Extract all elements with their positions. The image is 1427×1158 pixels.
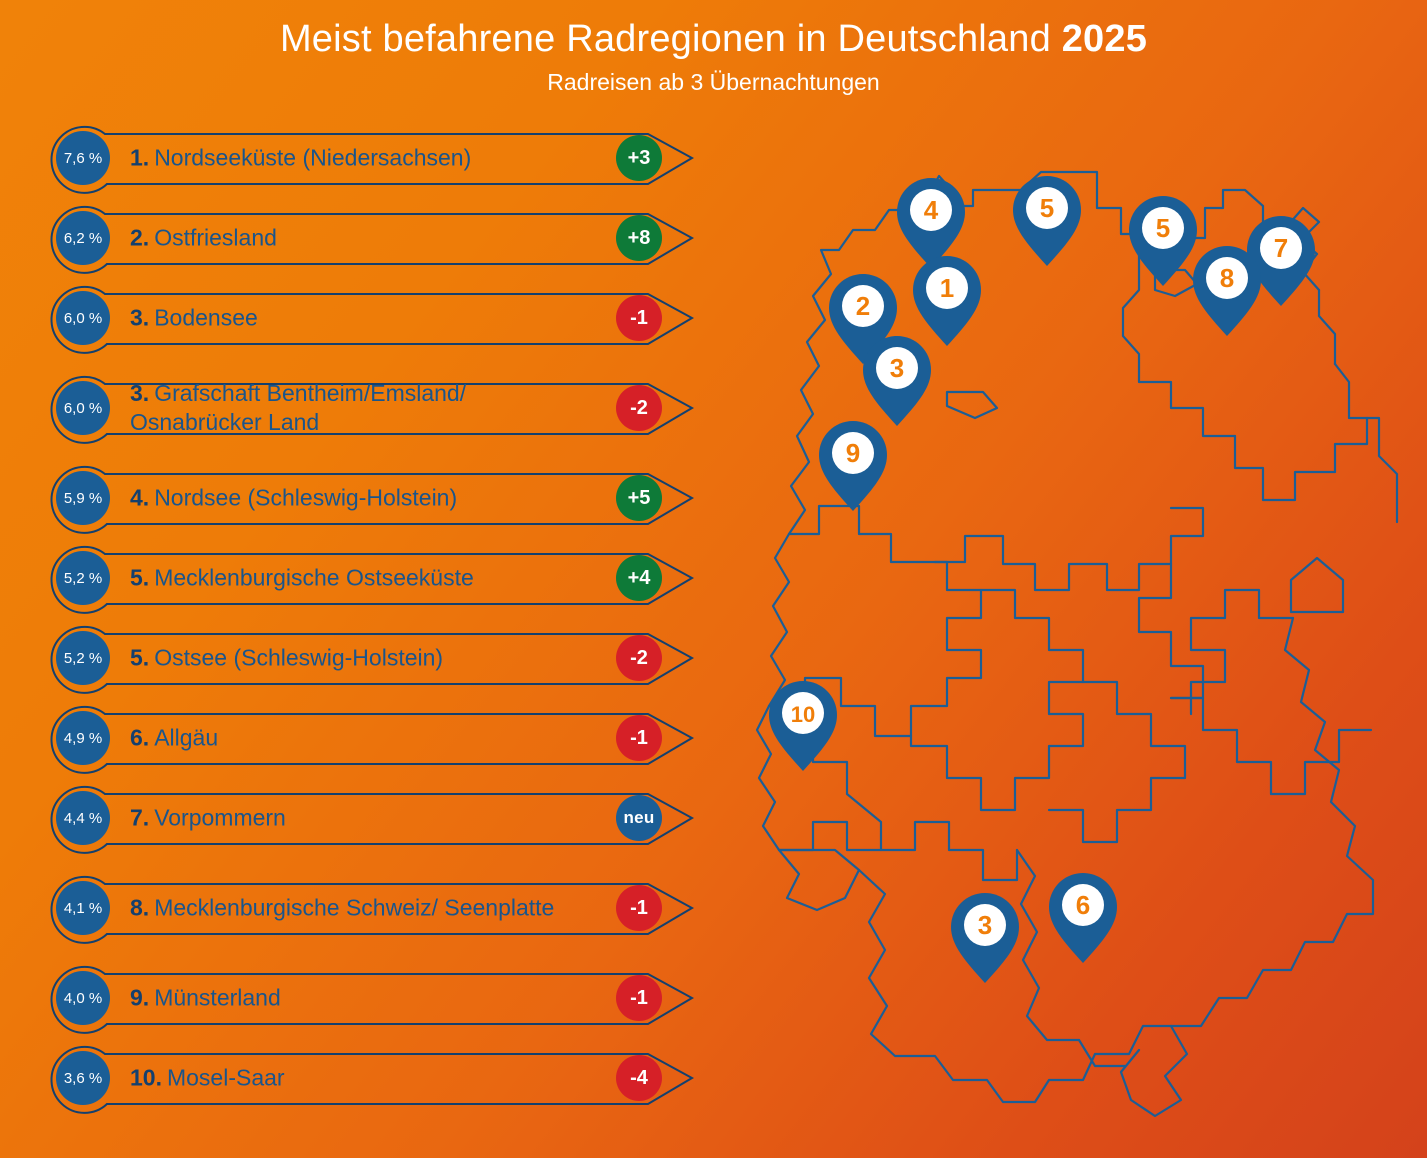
ranking-row[interactable]: 3,6 %10.Mosel-Saar-4: [44, 1038, 724, 1118]
pin-number: 5: [1040, 193, 1054, 223]
pin-number: 8: [1220, 263, 1234, 293]
page-title-year: 2025: [1062, 18, 1147, 60]
page-title-main: Meist befahrene Radregionen in Deutschla…: [280, 18, 1062, 60]
map-pin[interactable]: 6: [1049, 873, 1117, 963]
ranking-row[interactable]: 6,0 %3.Grafschaft Bentheim/Emsland/ Osna…: [44, 358, 724, 458]
region-name: 7.Vorpommern: [130, 804, 600, 833]
region-label: Münsterland: [154, 985, 281, 1011]
infographic-canvas: Meist befahrene Radregionen in Deutschla…: [0, 0, 1427, 1158]
region-label: Allgäu: [154, 725, 218, 751]
region-label: Nordsee (Schleswig-Holstein): [154, 485, 457, 511]
region-rank: 8.: [130, 895, 149, 921]
region-label: Bodensee: [154, 305, 258, 331]
ranking-row[interactable]: 6,0 %3.Bodensee-1: [44, 278, 724, 358]
region-name: 3.Bodensee: [130, 304, 600, 333]
ranking-row[interactable]: 5,2 %5.Mecklenburgische Ostseeküste+4: [44, 538, 724, 618]
region-rank: 5.: [130, 645, 149, 671]
pin-number: 10: [791, 702, 815, 727]
pin-number: 2: [856, 291, 870, 321]
region-name: 10.Mosel-Saar: [130, 1064, 600, 1093]
region-rank: 2.: [130, 225, 149, 251]
ranking-list: 7,6 %1.Nordseeküste (Niedersachsen)+36,2…: [44, 118, 724, 1118]
percent-circle: 5,2 %: [56, 551, 110, 605]
rank-change-badge: -2: [616, 385, 662, 431]
pin-number: 3: [890, 353, 904, 383]
map-pin[interactable]: 9: [819, 421, 887, 511]
map-pin[interactable]: 4: [897, 178, 965, 268]
ranking-row[interactable]: 6,2 %2.Ostfriesland+8: [44, 198, 724, 278]
ranking-row[interactable]: 7,6 %1.Nordseeküste (Niedersachsen)+3: [44, 118, 724, 198]
region-name: 1.Nordseeküste (Niedersachsen): [130, 144, 600, 173]
region-label: Ostsee (Schleswig-Holstein): [154, 645, 443, 671]
region-name: 5.Mecklenburgische Ostseeküste: [130, 564, 600, 593]
region-label: Vorpommern: [154, 805, 286, 831]
region-rank: 9.: [130, 985, 149, 1011]
region-label: Ostfriesland: [154, 225, 277, 251]
region-name: 8.Mecklenburgische Schweiz/ Seenplatte: [130, 894, 600, 923]
rank-change-badge: +4: [616, 555, 662, 601]
region-name: 4.Nordsee (Schleswig-Holstein): [130, 484, 600, 513]
map-pin[interactable]: 10: [769, 681, 837, 771]
percent-circle: 4,1 %: [56, 881, 110, 935]
pin-number: 7: [1274, 233, 1288, 263]
region-name: 2.Ostfriesland: [130, 224, 600, 253]
percent-circle: 5,9 %: [56, 471, 110, 525]
region-label: Mosel-Saar: [167, 1065, 285, 1091]
region-rank: 7.: [130, 805, 149, 831]
percent-circle: 6,0 %: [56, 291, 110, 345]
region-name: 6.Allgäu: [130, 724, 600, 753]
germany-map: 4557812391036: [735, 150, 1425, 1150]
header: Meist befahrene Radregionen in Deutschla…: [0, 16, 1427, 96]
region-name: 3.Grafschaft Bentheim/Emsland/ Osnabrück…: [130, 379, 600, 437]
region-label: Nordseeküste (Niedersachsen): [154, 145, 471, 171]
region-rank: 6.: [130, 725, 149, 751]
percent-circle: 5,2 %: [56, 631, 110, 685]
region-label: Mecklenburgische Schweiz/ Seenplatte: [154, 895, 554, 921]
page-title: Meist befahrene Radregionen in Deutschla…: [0, 16, 1427, 62]
ranking-row[interactable]: 4,4 %7.Vorpommernneu: [44, 778, 724, 858]
pin-number: 6: [1076, 890, 1090, 920]
percent-circle: 4,9 %: [56, 711, 110, 765]
rank-change-badge: -2: [616, 635, 662, 681]
region-rank: 4.: [130, 485, 149, 511]
rank-change-badge: -1: [616, 295, 662, 341]
rank-change-badge: -4: [616, 1055, 662, 1101]
map-pin[interactable]: 8: [1193, 246, 1261, 336]
rank-change-badge: -1: [616, 885, 662, 931]
page-subtitle: Radreisen ab 3 Übernachtungen: [0, 68, 1427, 96]
ranking-row[interactable]: 4,9 %6.Allgäu-1: [44, 698, 724, 778]
rank-change-badge: neu: [616, 795, 662, 841]
pin-number: 9: [846, 438, 860, 468]
pin-number: 4: [924, 195, 939, 225]
region-rank: 3.: [130, 305, 149, 331]
pin-number: 1: [940, 273, 954, 303]
region-name: 9.Münsterland: [130, 984, 600, 1013]
rank-change-badge: -1: [616, 715, 662, 761]
percent-circle: 4,4 %: [56, 791, 110, 845]
ranking-row[interactable]: 5,9 %4.Nordsee (Schleswig-Holstein)+5: [44, 458, 724, 538]
pin-number: 3: [978, 910, 992, 940]
ranking-row[interactable]: 4,1 %8.Mecklenburgische Schweiz/ Seenpla…: [44, 858, 724, 958]
percent-circle: 6,0 %: [56, 381, 110, 435]
rank-change-badge: +8: [616, 215, 662, 261]
map-pin[interactable]: 3: [951, 893, 1019, 983]
region-rank: 5.: [130, 565, 149, 591]
rank-change-badge: +5: [616, 475, 662, 521]
percent-circle: 7,6 %: [56, 131, 110, 185]
region-name: 5.Ostsee (Schleswig-Holstein): [130, 644, 600, 673]
map-pin[interactable]: 5: [1013, 176, 1081, 266]
region-rank: 3.: [130, 380, 149, 406]
region-label: Mecklenburgische Ostseeküste: [154, 565, 474, 591]
percent-circle: 4,0 %: [56, 971, 110, 1025]
percent-circle: 6,2 %: [56, 211, 110, 265]
region-label: Grafschaft Bentheim/Emsland/ Osnabrücker…: [130, 380, 466, 435]
ranking-row[interactable]: 4,0 %9.Münsterland-1: [44, 958, 724, 1038]
map-pin[interactable]: 3: [863, 336, 931, 426]
region-rank: 10.: [130, 1065, 162, 1091]
percent-circle: 3,6 %: [56, 1051, 110, 1105]
region-rank: 1.: [130, 145, 149, 171]
map-pin[interactable]: 1: [913, 256, 981, 346]
rank-change-badge: -1: [616, 975, 662, 1021]
pin-number: 5: [1156, 213, 1170, 243]
rank-change-badge: +3: [616, 135, 662, 181]
ranking-row[interactable]: 5,2 %5.Ostsee (Schleswig-Holstein)-2: [44, 618, 724, 698]
